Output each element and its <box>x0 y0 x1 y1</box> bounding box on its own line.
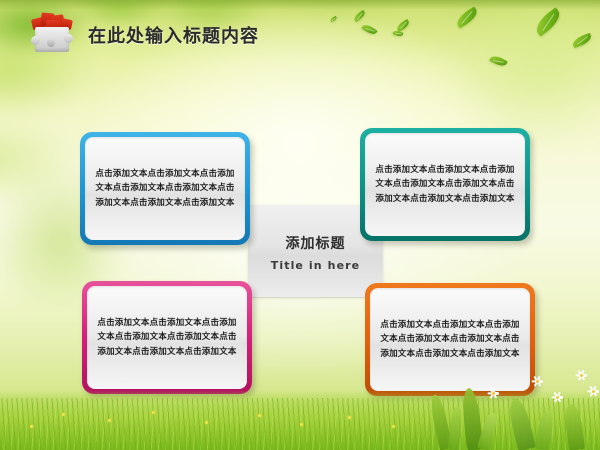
grass-blade-icon <box>535 409 556 450</box>
flower-dot <box>30 425 33 428</box>
plant-cluster <box>420 350 600 450</box>
card-text: 点击添加文本点击添加文本点击添加文本点击添加文本点击添加文本点击添加文本点击添加… <box>93 167 237 211</box>
puzzle-knob-left <box>31 36 40 45</box>
card-face: 点击添加文本点击添加文本点击添加文本点击添加文本点击添加文本点击添加文本点击添加… <box>85 137 245 240</box>
daisy-flower-icon <box>488 388 499 399</box>
card-text: 点击添加文本点击添加文本点击添加文本点击添加文本点击添加文本点击添加文本点击添加… <box>95 316 239 360</box>
house-puzzle-icon <box>28 12 76 52</box>
daisy-flower-icon <box>576 370 587 381</box>
flower-dot <box>62 413 65 416</box>
flower-dot <box>258 414 261 417</box>
slide-canvas: 在此处输入标题内容 添加标题 Title in here 点击添加文本点击添加文… <box>0 0 600 450</box>
grass-blade-icon <box>563 403 585 450</box>
flower-dot <box>300 423 303 426</box>
flower-dot <box>205 421 208 424</box>
content-card-blue[interactable]: 点击添加文本点击添加文本点击添加文本点击添加文本点击添加文本点击添加文本点击添加… <box>80 132 250 245</box>
puzzle-knob-right <box>64 34 73 43</box>
content-card-teal[interactable]: 点击添加文本点击添加文本点击添加文本点击添加文本点击添加文本点击添加文本点击添加… <box>360 128 530 241</box>
grass-blade-icon <box>448 406 464 450</box>
card-face: 点击添加文本点击添加文本点击添加文本点击添加文本点击添加文本点击添加文本点击添加… <box>87 286 247 389</box>
daisy-flower-icon <box>532 376 543 387</box>
card-text: 点击添加文本点击添加文本点击添加文本点击添加文本点击添加文本点击添加文本点击添加… <box>373 163 517 207</box>
flower-dot <box>392 425 395 428</box>
grass-blade-icon <box>506 397 536 450</box>
page-title: 在此处输入标题内容 <box>88 22 259 48</box>
background-top-shade <box>0 0 600 10</box>
daisy-flower-icon <box>588 386 599 397</box>
daisy-flower-icon <box>552 392 563 403</box>
center-title-en: Title in here <box>248 259 383 272</box>
center-title-block: 添加标题 Title in here <box>248 233 383 272</box>
flower-dot <box>152 411 155 414</box>
flower-dot <box>348 416 351 419</box>
content-card-pink[interactable]: 点击添加文本点击添加文本点击添加文本点击添加文本点击添加文本点击添加文本点击添加… <box>82 281 252 394</box>
puzzle-knob-center <box>47 39 55 47</box>
card-face: 点击添加文本点击添加文本点击添加文本点击添加文本点击添加文本点击添加文本点击添加… <box>365 133 525 236</box>
flower-dot <box>108 419 111 422</box>
